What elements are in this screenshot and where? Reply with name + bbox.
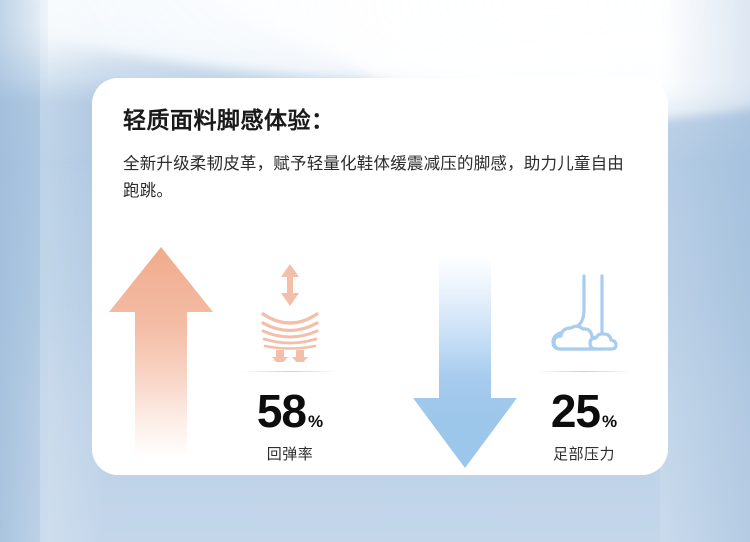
foot-pressure-icon	[518, 258, 650, 362]
metric-rebound: 58% 回弹率	[92, 236, 380, 475]
stat-unit: %	[308, 412, 323, 431]
stat-number: 58	[257, 385, 306, 437]
stat-rebound: 58% 回弹率	[224, 258, 356, 464]
background-band-left-light	[40, 0, 100, 542]
stat-foot-pressure: 25% 足部压力	[518, 258, 650, 464]
arrow-down-icon	[410, 256, 520, 471]
stat-number: 25	[551, 385, 600, 437]
stat-value-rebound: 58%	[224, 388, 356, 434]
stat-unit: %	[602, 412, 617, 431]
stat-value-foot-pressure: 25%	[518, 388, 650, 434]
description-text: 全新升级柔韧皮革，赋予轻量化鞋体缓震减压的脚感，助力儿童自由跑跳。	[123, 151, 633, 205]
promo-page: 轻质面料脚感体验： 全新升级柔韧皮革，赋予轻量化鞋体缓震减压的脚感，助力儿童自由…	[0, 0, 750, 542]
background-wave-one	[0, 0, 750, 80]
content-card: 轻质面料脚感体验： 全新升级柔韧皮革，赋予轻量化鞋体缓震减压的脚感，助力儿童自由…	[92, 78, 668, 475]
background-top-haze	[0, 0, 750, 72]
page-title: 轻质面料脚感体验：	[123, 101, 335, 135]
metric-foot-pressure: 25% 足部压力	[380, 236, 668, 475]
arrow-up-icon	[106, 244, 216, 459]
background-band-left	[0, 0, 48, 542]
cushion-rebound-icon	[224, 258, 356, 362]
stat-label-foot-pressure: 足部压力	[518, 443, 650, 464]
stat-label-rebound: 回弹率	[224, 443, 356, 464]
stat-divider	[535, 371, 633, 372]
metrics-row: 58% 回弹率	[92, 236, 668, 475]
stat-divider	[241, 371, 339, 372]
background-band-right	[660, 0, 750, 542]
